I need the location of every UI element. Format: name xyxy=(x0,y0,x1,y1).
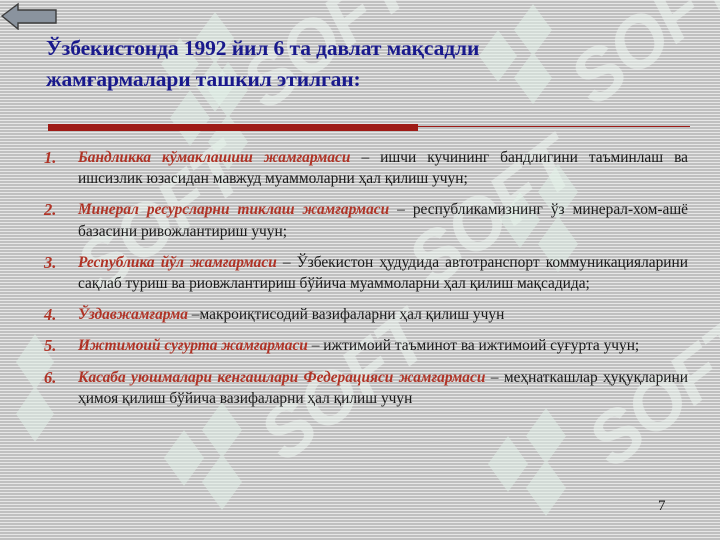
back-arrow-icon[interactable] xyxy=(0,2,58,30)
slide-title: Ўзбекистонда 1992 йил 6 та давлат мақсад… xyxy=(46,33,606,95)
divider-thick-bar xyxy=(48,124,418,131)
list-item-emphasis: Ижтимоий суғурта жамғармаси xyxy=(78,337,308,354)
title-line-2: жамғармалари ташкил этилган: xyxy=(46,64,606,95)
list-item-description: – ижтимоий таъминот ва ижтимоий суғурта … xyxy=(308,337,639,354)
list-item-number: 3. xyxy=(40,252,78,273)
list-item-number: 1. xyxy=(40,147,78,168)
list-item-text: Ўздавжамғарма –макроиқтисодий вазифаларн… xyxy=(78,304,688,325)
list-item-emphasis: Касаба уюшмалари кенгашлари Федерацияси … xyxy=(78,369,485,386)
list-item-number: 2. xyxy=(40,199,78,220)
list-item: 5.Ижтимоий суғурта жамғармаси – ижтимоий… xyxy=(40,335,688,356)
list-item: 2.Минерал ресурсларни тиклаш жамғармаси … xyxy=(40,199,688,241)
list-item-emphasis: Республика йўл жамғармаси xyxy=(78,254,277,271)
presentation-slide: SOFT SOFT SOFT SOFT xyxy=(0,0,720,540)
list-item-text: Касаба уюшмалари кенгашлари Федерацияси … xyxy=(78,367,688,409)
title-line-1: Ўзбекистонда 1992 йил 6 та давлат мақсад… xyxy=(46,33,606,64)
list-item-emphasis: Ўздавжамғарма xyxy=(78,306,188,323)
list-item: 4.Ўздавжамғарма –макроиқтисодий вазифала… xyxy=(40,304,688,325)
list-item-emphasis: Минерал ресурсларни тиклаш жамғармаси xyxy=(78,201,389,218)
list-item: 6.Касаба уюшмалари кенгашлари Федерацияс… xyxy=(40,367,688,409)
page-number: 7 xyxy=(658,498,666,515)
list-item-text: Республика йўл жамғармаси – Ўзбекистон ҳ… xyxy=(78,252,688,294)
numbered-list: 1.Бандликка кўмаклашиш жамғармаси – ишчи… xyxy=(40,147,688,419)
list-item-text: Бандликка кўмаклашиш жамғармаси – ишчи к… xyxy=(78,147,688,189)
divider-thin-line xyxy=(418,126,690,127)
list-item-text: Ижтимоий суғурта жамғармаси – ижтимоий т… xyxy=(78,335,688,356)
list-item-number: 5. xyxy=(40,335,78,356)
list-item-description: –макроиқтисодий вазифаларни ҳал қилиш уч… xyxy=(188,306,504,323)
list-item: 1.Бандликка кўмаклашиш жамғармаси – ишчи… xyxy=(40,147,688,189)
title-divider xyxy=(48,123,690,131)
list-item-number: 6. xyxy=(40,367,78,388)
list-item-number: 4. xyxy=(40,304,78,325)
list-item-text: Минерал ресурсларни тиклаш жамғармаси – … xyxy=(78,199,688,241)
list-item: 3.Республика йўл жамғармаси – Ўзбекистон… xyxy=(40,252,688,294)
list-item-emphasis: Бандликка кўмаклашиш жамғармаси xyxy=(78,149,350,166)
